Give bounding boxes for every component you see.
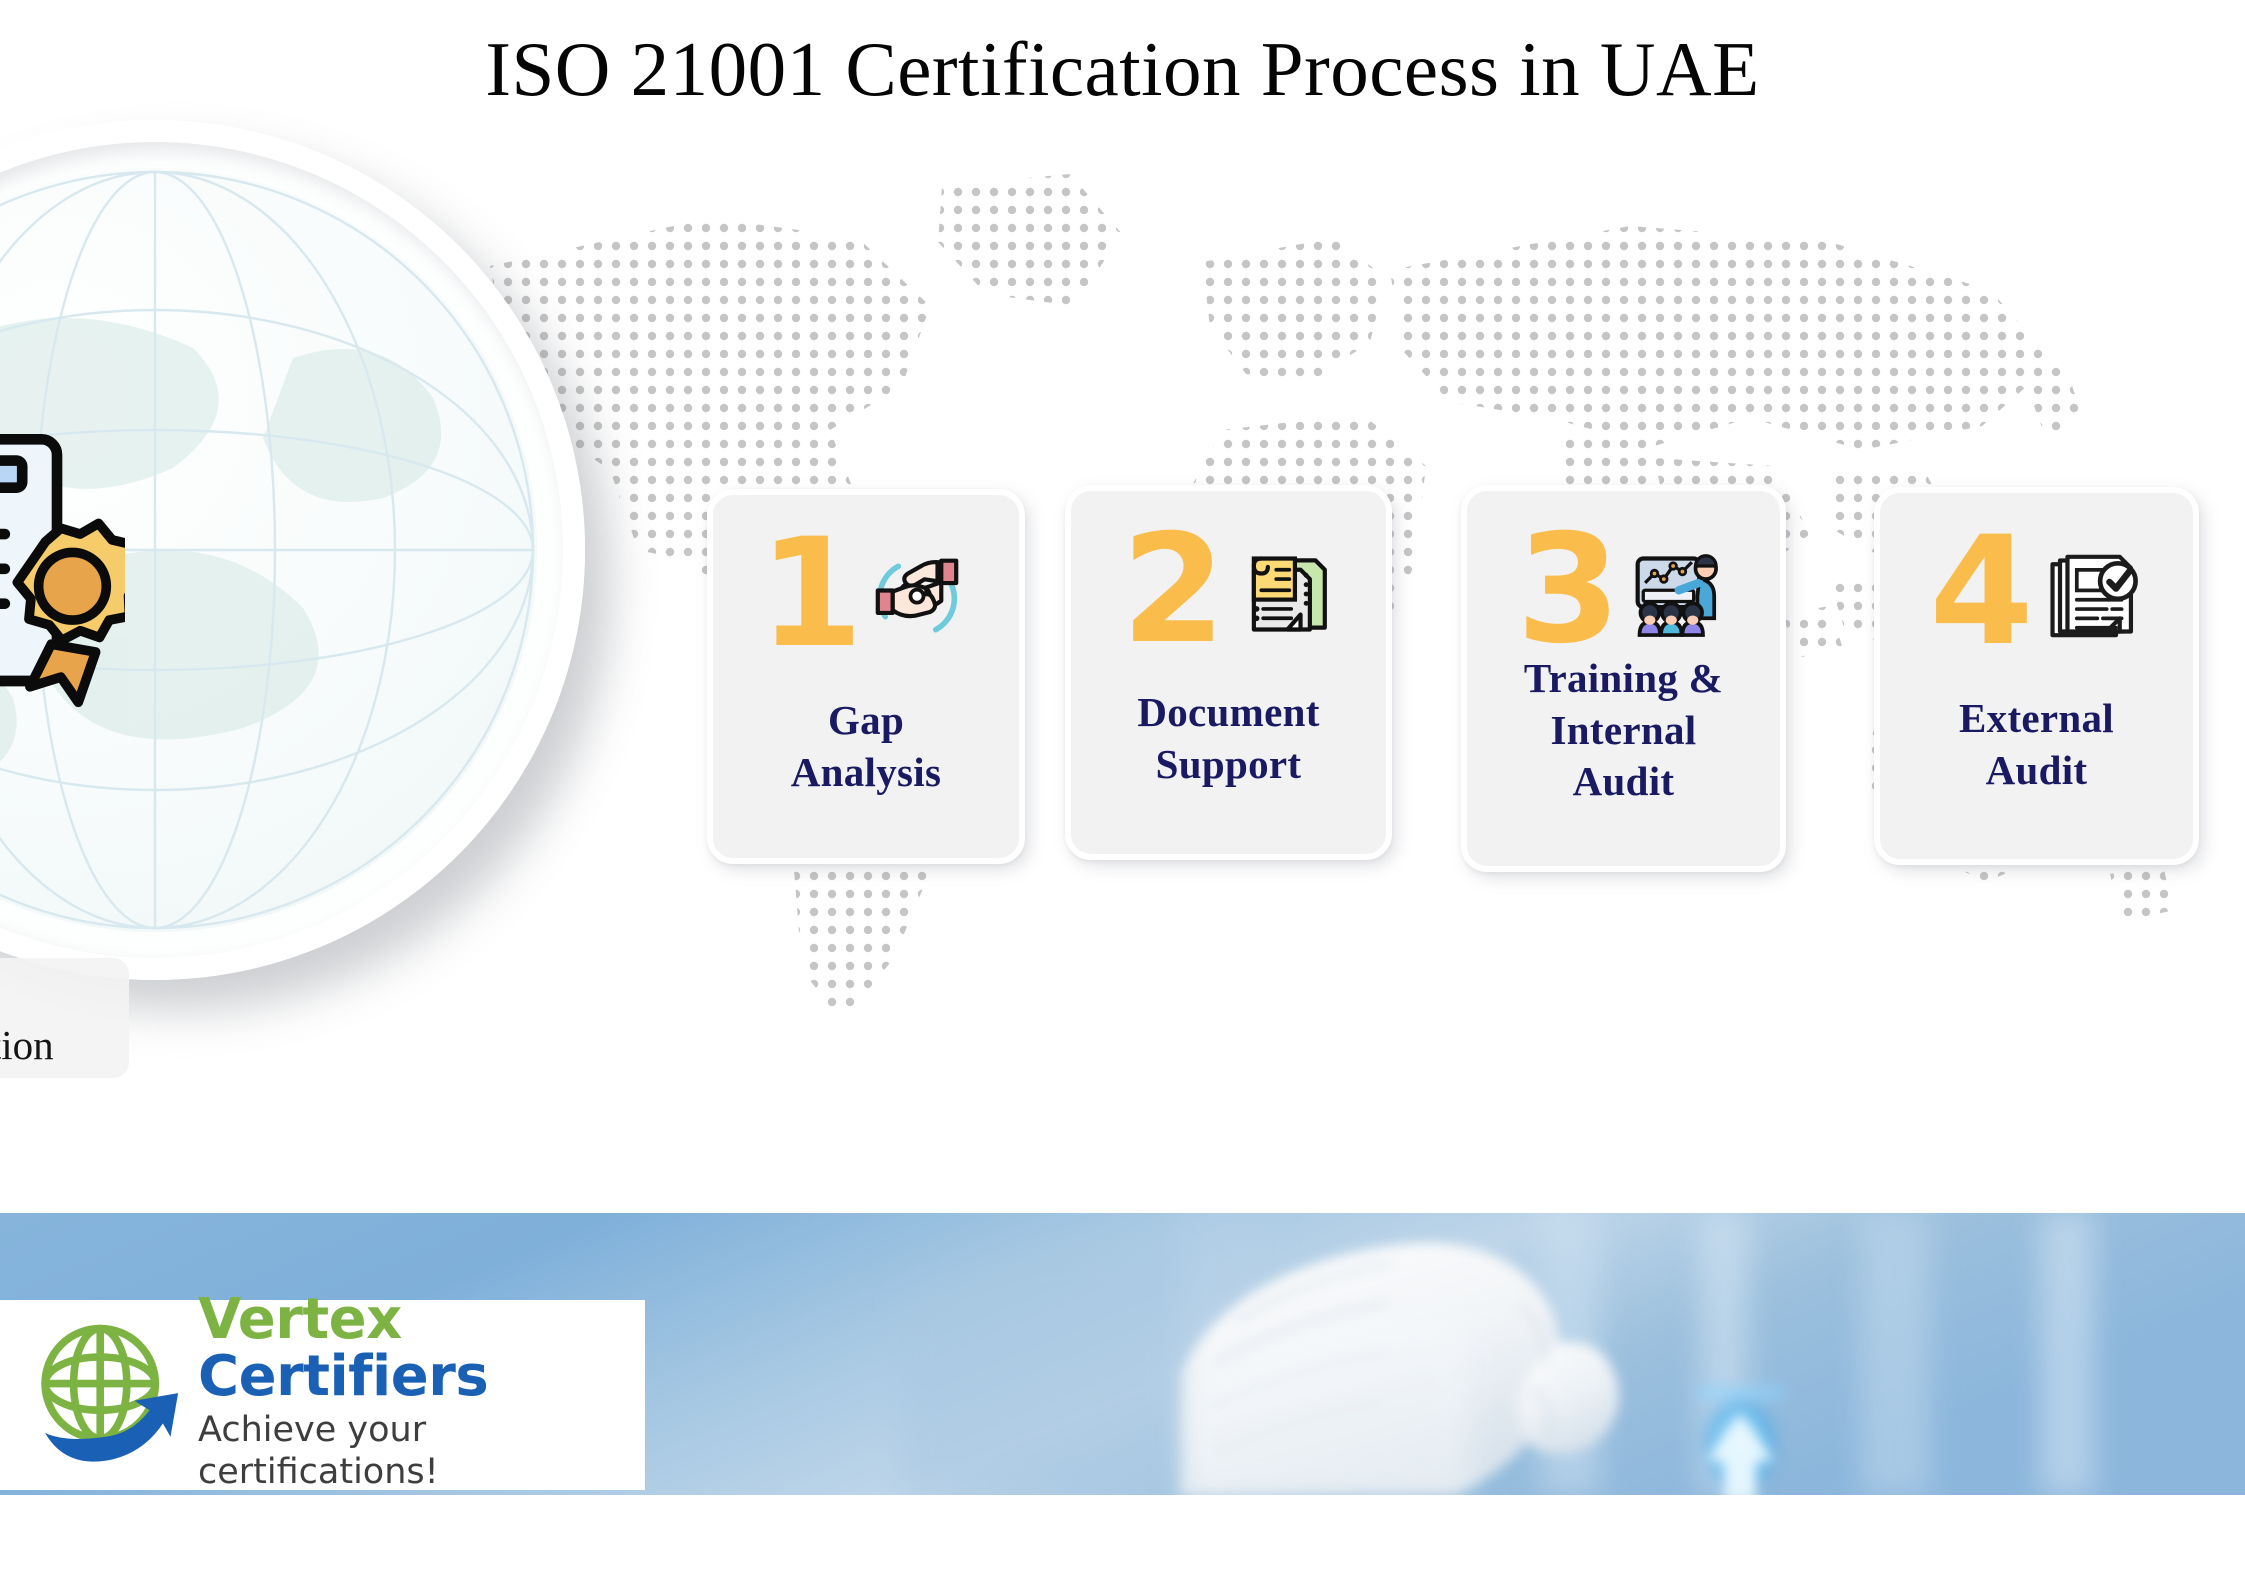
step-2-label: Document Support [1079,687,1378,790]
step-card-3[interactable]: 3 [1461,485,1786,872]
step-4-label-line2: Audit [1888,745,2185,797]
process-steps: 1 [0,0,2245,1213]
logo-name-part2: Certifiers [198,1344,488,1409]
step-4-head: 4 [1880,521,2193,671]
logo-name-part1: Vertex [198,1287,402,1352]
step-4-label: External Audit [1888,693,2185,796]
step-4-number: 4 [1929,517,2027,667]
globe-arrow-logo-icon [28,1319,180,1471]
logo-tagline: Achieve your certifications! [198,1409,645,1493]
step-3-label-line3: Audit [1475,756,1772,808]
step-card-1[interactable]: 1 [707,489,1025,864]
footer-strip [0,1495,2245,1587]
step-3-label: Training & Internal Audit [1475,653,1772,808]
content-stage: ISO 21001 Certification Process in UAE [0,0,2245,1213]
training-presentation-icon [1619,538,1731,650]
step-1-label-line2: Analysis [721,747,1011,799]
step-1-head: 1 [713,523,1019,673]
step-card-4[interactable]: 4 [1874,487,2199,865]
step-2-label-line1: Document [1079,687,1378,739]
handshake-collaboration-icon [861,542,973,654]
documents-clipboard-icon [1224,538,1336,650]
page-title: ISO 21001 Certification Process in UAE [0,28,2245,111]
step-2-label-line2: Support [1079,739,1378,791]
step-3-number: 3 [1516,515,1614,665]
step-1-label: Gap Analysis [721,695,1011,798]
step-3-head: 3 [1467,519,1780,669]
step-4-label-line1: External [1888,693,2185,745]
document-stack-check-icon [2032,540,2144,652]
logo-name: Vertex Certifiers [198,1291,645,1405]
step-3-label-line2: Internal [1475,705,1772,757]
step-2-number: 2 [1121,515,1219,665]
logo-text-block: Vertex Certifiers Achieve your certifica… [198,1291,645,1493]
poster-root: ISO 21001 Certification Process in UAE [0,0,2245,1587]
step-2-head: 2 [1071,519,1386,669]
step-3-label-line1: Training & [1475,653,1772,705]
step-1-number: 1 [759,519,857,669]
vertex-certifiers-logo[interactable]: Vertex Certifiers Achieve your certifica… [0,1300,645,1490]
step-1-label-line1: Gap [721,695,1011,747]
step-card-2[interactable]: 2 [1065,485,1392,860]
